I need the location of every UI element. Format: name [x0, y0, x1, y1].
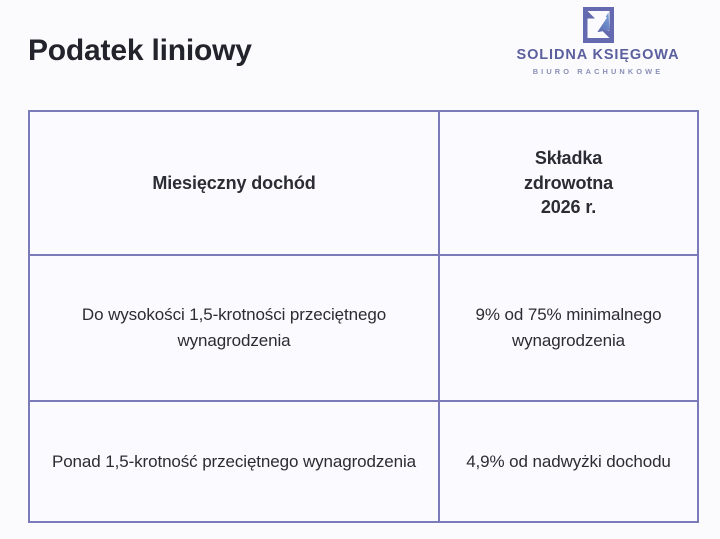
- square-arrow-logo-icon: [575, 6, 621, 44]
- column-header-premium-line-1: Składka: [535, 148, 602, 168]
- table-row: Do wysokości 1,5-krotności przeciętnego …: [29, 255, 698, 401]
- column-header-premium-line-3: 2026 r.: [541, 197, 596, 217]
- company-logo: SOLIDNA KSIĘGOWA BIURO RACHUNKOWE: [498, 6, 698, 90]
- cell-income-threshold-1: Do wysokości 1,5-krotności przeciętnego …: [29, 255, 439, 401]
- page-header: Podatek liniowy SOLIDNA KSIĘGOWA BIURO R…: [0, 0, 720, 110]
- cell-income-threshold-2: Ponad 1,5-krotność przeciętnego wynagrod…: [29, 401, 439, 522]
- column-header-premium-line-2: zdrowotna: [524, 173, 613, 193]
- health-contribution-table: Miesięczny dochód Składka zdrowotna 2026…: [28, 110, 699, 523]
- cell-premium-rate-2: 4,9% od nadwyżki dochodu: [439, 401, 698, 522]
- table-row: Ponad 1,5-krotność przeciętnego wynagrod…: [29, 401, 698, 522]
- page-title: Podatek liniowy: [28, 34, 252, 68]
- table-header-row: Miesięczny dochód Składka zdrowotna 2026…: [29, 111, 698, 255]
- column-header-premium: Składka zdrowotna 2026 r.: [439, 111, 698, 255]
- logo-tagline: BIURO RACHUNKOWE: [498, 68, 698, 75]
- column-header-income: Miesięczny dochód: [29, 111, 439, 255]
- logo-company-name: SOLIDNA KSIĘGOWA: [498, 48, 698, 63]
- cell-premium-rate-1: 9% od 75% minimalnego wynagrodzenia: [439, 255, 698, 401]
